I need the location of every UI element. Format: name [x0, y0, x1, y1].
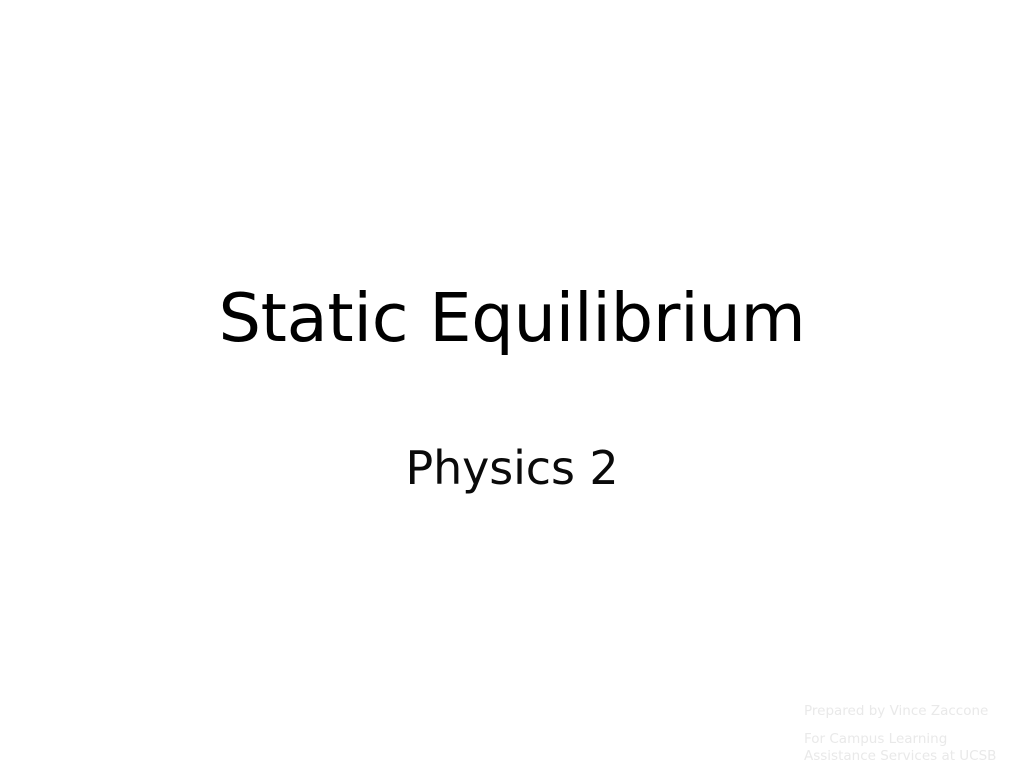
- subtitle-placeholder[interactable]: Physics 2: [0, 443, 1024, 494]
- title-placeholder[interactable]: Static Equilibrium: [0, 282, 1024, 354]
- credit-footer: Prepared by Vince Zaccone For Campus Lea…: [804, 703, 1024, 765]
- credit-org-line-1: For Campus Learning: [804, 731, 1024, 748]
- page-title: Static Equilibrium: [0, 282, 1024, 354]
- credit-author-line: Prepared by Vince Zaccone: [804, 703, 1024, 720]
- presentation-slide: Static Equilibrium Physics 2 Prepared by…: [0, 0, 1024, 768]
- credit-organization: For Campus Learning Assistance Services …: [804, 731, 1024, 765]
- credit-org-line-2: Assistance Services at UCSB: [804, 748, 1024, 765]
- slide-subtitle: Physics 2: [0, 443, 1024, 494]
